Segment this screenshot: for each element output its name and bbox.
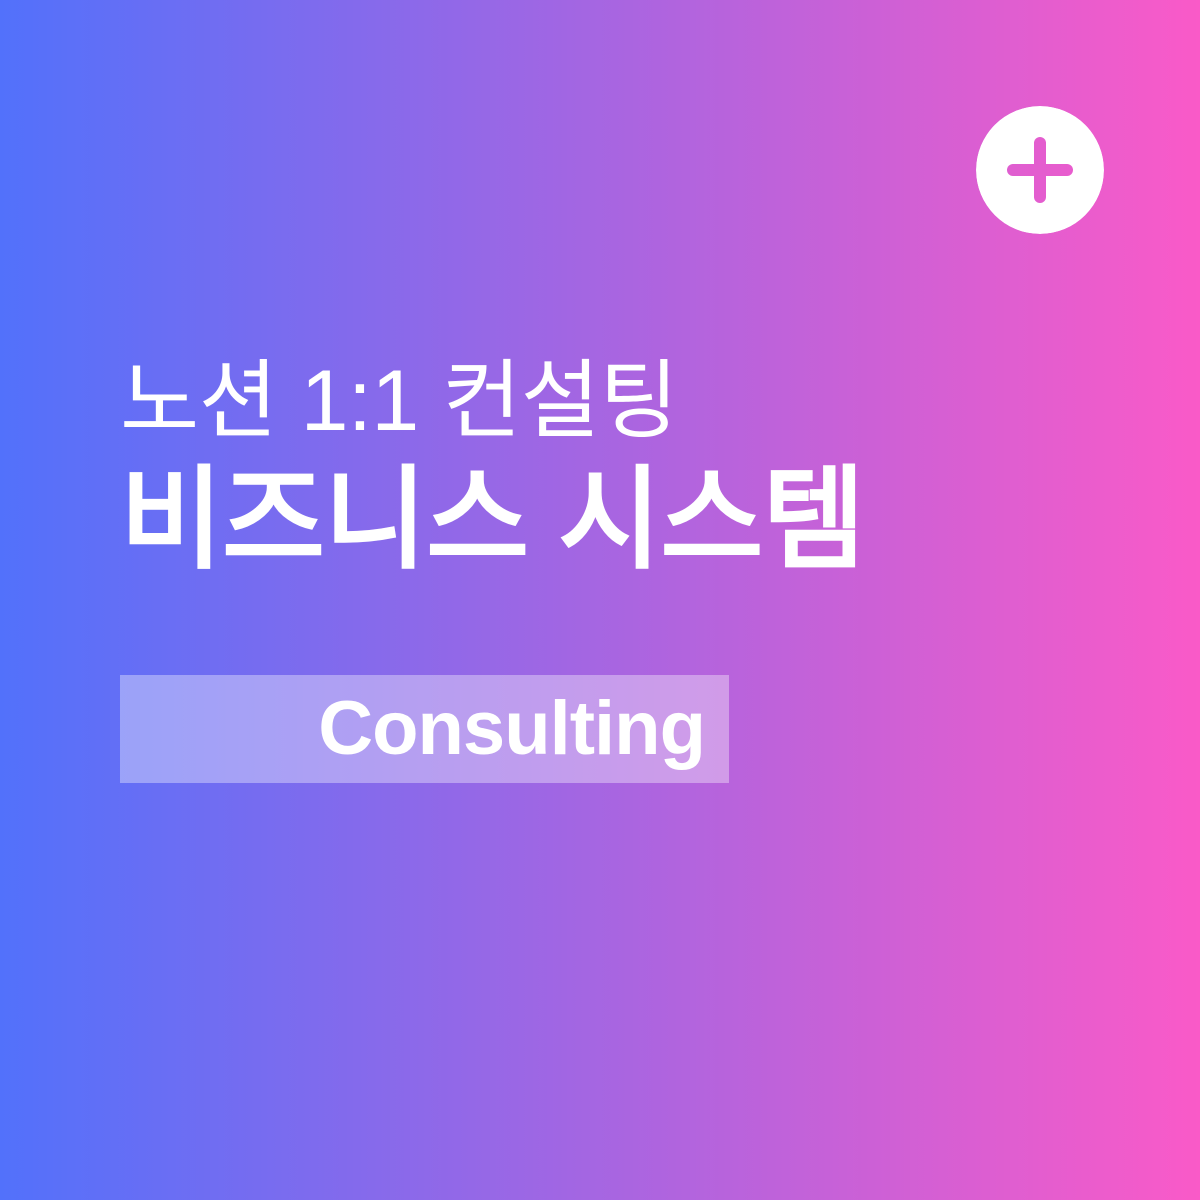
promo-card: 노션 1:1 컨설팅 비즈니스 시스템 Consulting [0, 0, 1200, 1200]
plus-circle-icon [976, 106, 1104, 234]
headline-subtitle: 노션 1:1 컨설팅 [120, 352, 1120, 452]
add-button[interactable] [976, 106, 1104, 234]
headline-title: 비즈니스 시스템 [120, 458, 1120, 581]
consulting-highlight-bar: Consulting [120, 675, 729, 783]
headline-block: 노션 1:1 컨설팅 비즈니스 시스템 [120, 352, 1120, 581]
consulting-label: Consulting [318, 691, 705, 767]
